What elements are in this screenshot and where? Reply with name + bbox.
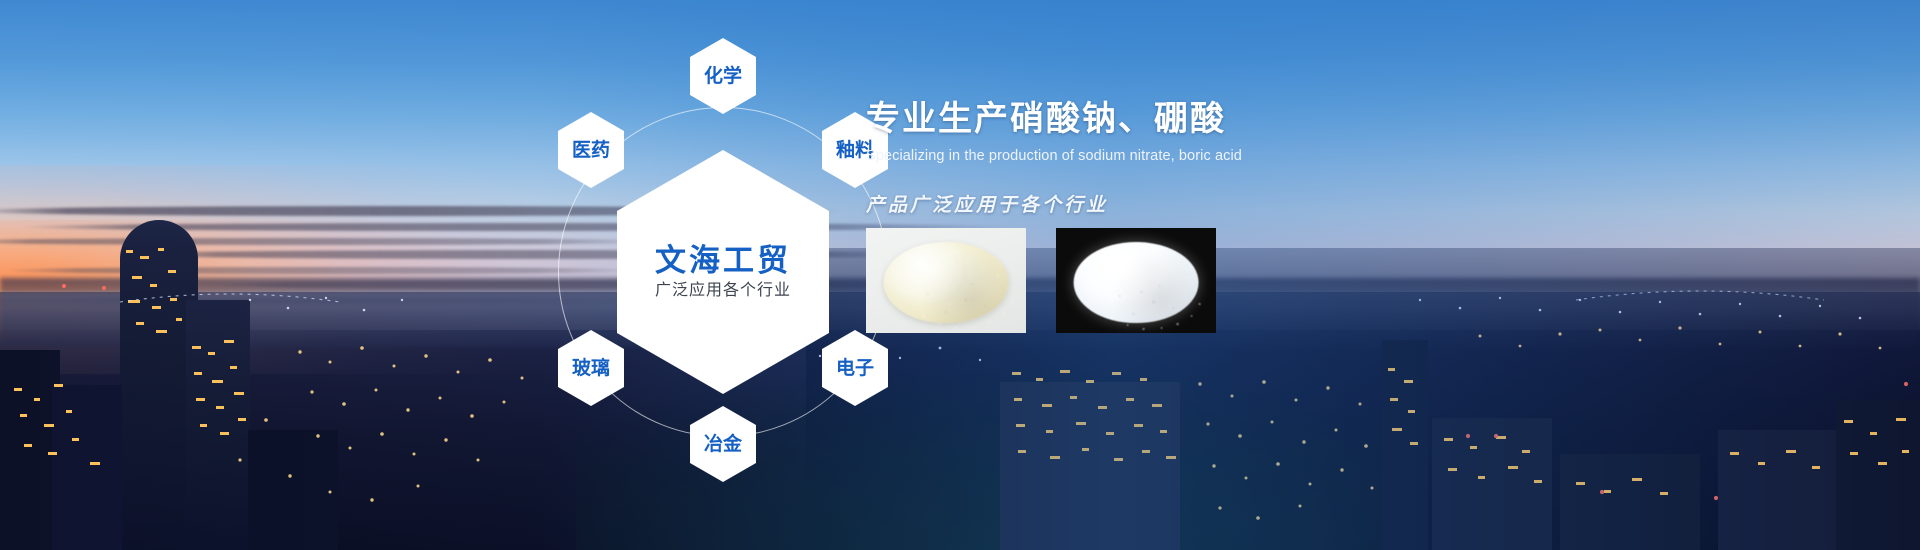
product-photo-row: [866, 228, 1216, 333]
product-photo-boric-acid: [1056, 228, 1216, 333]
headline-english: Specializing in the production of sodium…: [866, 148, 1486, 164]
hex-node-chemical[interactable]: 化学: [690, 38, 756, 114]
hex-node-label: 化学: [704, 67, 742, 86]
powder-grain-texture: [1074, 242, 1216, 333]
hex-node-label: 医药: [572, 141, 610, 160]
powder-pile: [1074, 242, 1199, 324]
product-photo-sodium-nitrate: [866, 228, 1026, 333]
headline: 专业生产硝酸钠、硼酸: [866, 100, 1486, 139]
banner-copy-block: 专业生产硝酸钠、硼酸 Specializing in the productio…: [866, 100, 1486, 217]
brand-subtitle: 广泛应用各个行业: [655, 283, 791, 299]
promo-banner: 文海工贸 广泛应用各个行业 化学 釉料 电子 冶金 玻璃 医药 专业生产硝酸钠、…: [0, 0, 1920, 550]
powder-pile: [884, 242, 1009, 324]
hex-node-label: 电子: [836, 359, 874, 378]
hex-node-label: 冶金: [704, 435, 742, 454]
powder-grain-texture: [884, 242, 1026, 333]
tagline: 产品广泛应用于各个行业: [866, 190, 1486, 217]
hex-node-label: 玻璃: [572, 359, 610, 378]
brand-name: 文海工贸: [655, 245, 791, 276]
